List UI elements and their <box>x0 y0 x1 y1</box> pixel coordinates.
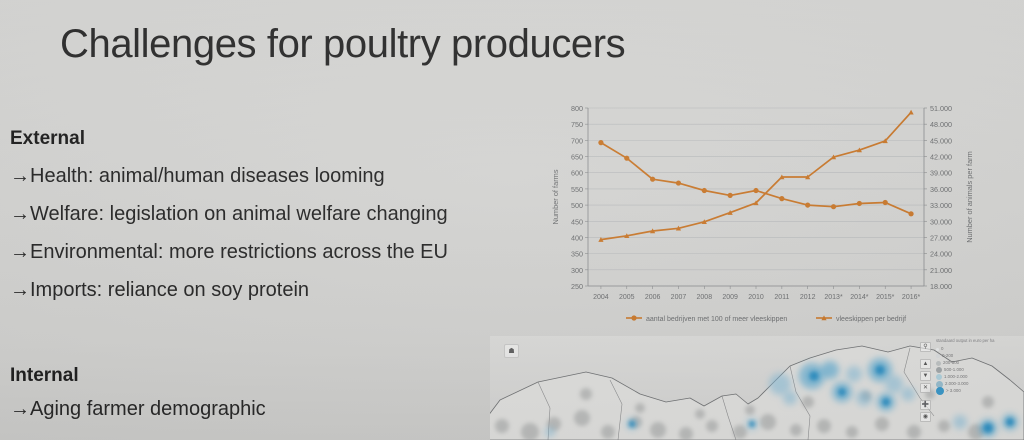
y-axis-tick-label: 250 <box>571 282 583 291</box>
map-density-core <box>838 388 846 396</box>
section-heading-internal: Internal <box>10 365 79 387</box>
chart-data-point <box>831 204 836 209</box>
map-density-blob <box>601 425 615 439</box>
chart-data-point <box>624 156 629 161</box>
map-density-blob <box>574 410 590 426</box>
map-legend-label: 500-1.000 <box>944 367 964 374</box>
poultry-farms-chart: 80051.00075048.00070045.00065042.0006003… <box>548 96 982 332</box>
map-density-blob <box>790 424 802 436</box>
y2-axis-tick-label: 39.000 <box>930 169 952 178</box>
map-density-blob <box>545 427 555 437</box>
map-density-blob <box>783 391 797 405</box>
map-legend-item: 0-200 <box>936 353 1022 360</box>
chart-data-point <box>805 202 810 207</box>
map-legend-label: 1.000-2.000 <box>944 374 967 381</box>
y-axis-tick-label: 750 <box>571 120 583 129</box>
y2-axis-tick-label: 51.000 <box>930 104 952 113</box>
x-axis-tick-label: 2013* <box>824 294 843 301</box>
y2-axis-tick-label: 33.000 <box>930 201 952 210</box>
map-density-blob <box>846 366 862 382</box>
x-axis-tick-label: 2015* <box>876 294 895 301</box>
map-density-blob <box>817 419 831 433</box>
map-legend-swatch <box>936 387 944 395</box>
chevron-down-icon[interactable]: ▼ <box>920 371 931 381</box>
map-density-blob <box>745 405 755 415</box>
map-legend-item: 1.000-2.000 <box>936 374 1022 381</box>
x-axis-tick-label: 2008 <box>697 294 713 301</box>
map-density-core <box>629 421 635 427</box>
chart-data-point <box>676 180 681 185</box>
chart-data-point <box>857 201 862 206</box>
map-legend-swatch <box>936 374 942 380</box>
y2-axis-tick-label: 24.000 <box>930 250 952 259</box>
legend-label: vleeskippen per bedrijf <box>836 316 906 323</box>
y-axis-tick-label: 550 <box>571 185 583 194</box>
x-axis-tick-label: 2004 <box>593 294 609 301</box>
map-legend-label: 200-500 <box>943 360 959 367</box>
x-axis-tick-label: 2012 <box>800 294 816 301</box>
map-legend-item: 2.000-3.000 <box>936 381 1022 388</box>
map-density-blob <box>856 390 872 406</box>
map-density-blob <box>495 419 509 433</box>
chart-data-point <box>753 188 758 193</box>
slide-canvas: Challenges for poultry producers Externa… <box>0 0 1024 440</box>
map-legend-swatch <box>936 367 942 373</box>
y2-axis-tick-label: 21.000 <box>930 266 952 275</box>
map-density-core <box>809 371 819 381</box>
chart-data-point <box>908 110 913 115</box>
map-density-core <box>882 398 890 406</box>
x-axis-tick-label: 2014* <box>850 294 869 301</box>
map-density-blob <box>635 403 645 413</box>
y2-axis-tick-label: 27.000 <box>930 233 952 242</box>
map-legend-rows: 00-200200-500500-1.0001.000-2.0002.000-3… <box>936 346 1022 395</box>
map-density-core <box>749 421 755 427</box>
map-legend-item: > 3.000 <box>936 388 1022 395</box>
chart-svg: 80051.00075048.00070045.00065042.0006003… <box>548 96 982 332</box>
y-axis-tick-label: 300 <box>571 266 583 275</box>
section-heading-external: External <box>10 128 85 150</box>
map-density-blob <box>846 426 858 438</box>
x-axis-tick-label: 2007 <box>671 294 687 301</box>
plus-icon[interactable]: ➕ <box>920 400 931 410</box>
chart-data-point <box>702 188 707 193</box>
map-density-blob <box>733 425 747 439</box>
bullet-aging-farmer: →Aging farmer demographic <box>10 398 266 421</box>
home-icon[interactable]: ☗ <box>504 344 519 358</box>
chart-data-point <box>650 177 655 182</box>
chart-data-point <box>779 196 784 201</box>
y-axis-tick-label: 350 <box>571 250 583 259</box>
x-axis-tick-label: 2009 <box>722 294 738 301</box>
legend-marker <box>631 315 636 320</box>
x-axis-tick-label: 2005 <box>619 294 635 301</box>
x-axis-tick-label: 2016* <box>902 294 921 301</box>
map-density-blob <box>580 388 592 400</box>
map-legend-item: 0 <box>936 346 1022 353</box>
map-density-blob <box>885 375 903 393</box>
map-legend-swatch <box>936 361 941 366</box>
y-axis-tick-label: 450 <box>571 217 583 226</box>
circle-icon[interactable]: ◉ <box>920 412 931 422</box>
map-density-blob <box>760 414 776 430</box>
y2-axis-title: Number of animals per farm <box>965 151 974 243</box>
map-density-blob <box>802 396 814 408</box>
y-axis-tick-label: 400 <box>571 233 583 242</box>
x-axis-tick-label: 2006 <box>645 294 661 301</box>
x-axis-tick-label: 2011 <box>774 294 789 301</box>
y-axis-tick-label: 650 <box>571 153 583 162</box>
map-legend-swatch <box>936 354 940 358</box>
map-density-blob <box>953 415 967 429</box>
map-legend-label: 2.000-3.000 <box>945 381 968 388</box>
y-axis-tick-label: 600 <box>571 169 583 178</box>
y-axis-title: Number of farms <box>551 169 560 224</box>
bullet-imports: →Imports: reliance on soy protein <box>10 279 309 302</box>
y-axis-tick-label: 800 <box>571 104 583 113</box>
map-legend-title: standaard output in euro per ha <box>936 338 1022 345</box>
map-legend-label: > 3.000 <box>946 388 961 395</box>
x-axis-tick-label: 2010 <box>748 294 764 301</box>
search-icon[interactable]: ⚲ <box>920 342 931 352</box>
map-density-core <box>983 423 993 433</box>
map-density-blob <box>938 420 950 432</box>
bullet-health: →Health: animal/human diseases looming <box>10 165 385 188</box>
y2-axis-tick-label: 42.000 <box>930 153 952 162</box>
chart-data-point <box>598 140 603 145</box>
bullet-welfare: →Welfare: legislation on animal welfare … <box>10 203 448 226</box>
chart-data-point <box>908 211 913 216</box>
map-density-blob <box>706 420 718 432</box>
map-density-core <box>875 365 885 375</box>
y2-axis-tick-label: 18.000 <box>930 282 952 291</box>
map-density-blob <box>982 396 994 408</box>
bullet-environmental: →Environmental: more restrictions across… <box>10 241 448 264</box>
y2-axis-tick-label: 48.000 <box>930 120 952 129</box>
map-legend-item: 200-500 <box>936 360 1022 367</box>
map-legend-label: 0 <box>941 346 943 353</box>
map-density-blob <box>695 409 705 419</box>
map-legend-item: 500-1.000 <box>936 367 1022 374</box>
map-density-blob <box>907 425 921 439</box>
y2-axis-tick-label: 30.000 <box>930 217 952 226</box>
legend-label: aantal bedrijven met 100 of meer vleeski… <box>646 316 787 323</box>
map-density-core <box>1006 418 1014 426</box>
map-controls[interactable]: ⚲ ▲ ▼ ✕ ➕ ◉ <box>919 342 932 422</box>
map-density-blob <box>821 361 839 379</box>
map-legend: standaard output in euro per ha 00-20020… <box>936 338 1022 395</box>
map-density-blob <box>901 387 915 401</box>
map-density-blob <box>650 422 666 438</box>
farm-density-map[interactable]: ☗ ⚲ ▲ ▼ ✕ ➕ ◉ standaard output in euro p… <box>490 336 1024 440</box>
y-axis-tick-label: 500 <box>571 201 583 210</box>
page-title: Challenges for poultry producers <box>60 22 625 67</box>
map-legend-swatch <box>936 348 939 351</box>
chart-data-point <box>883 200 888 205</box>
map-legend-label: 0-200 <box>942 353 953 360</box>
chevron-up-icon[interactable]: ▲ <box>920 359 931 369</box>
map-density-blob <box>875 417 889 431</box>
y2-axis-tick-label: 45.000 <box>930 136 952 145</box>
chart-data-point <box>728 193 733 198</box>
crosshair-icon[interactable]: ✕ <box>920 383 931 393</box>
y2-axis-tick-label: 36.000 <box>930 185 952 194</box>
y-axis-tick-label: 700 <box>571 136 583 145</box>
